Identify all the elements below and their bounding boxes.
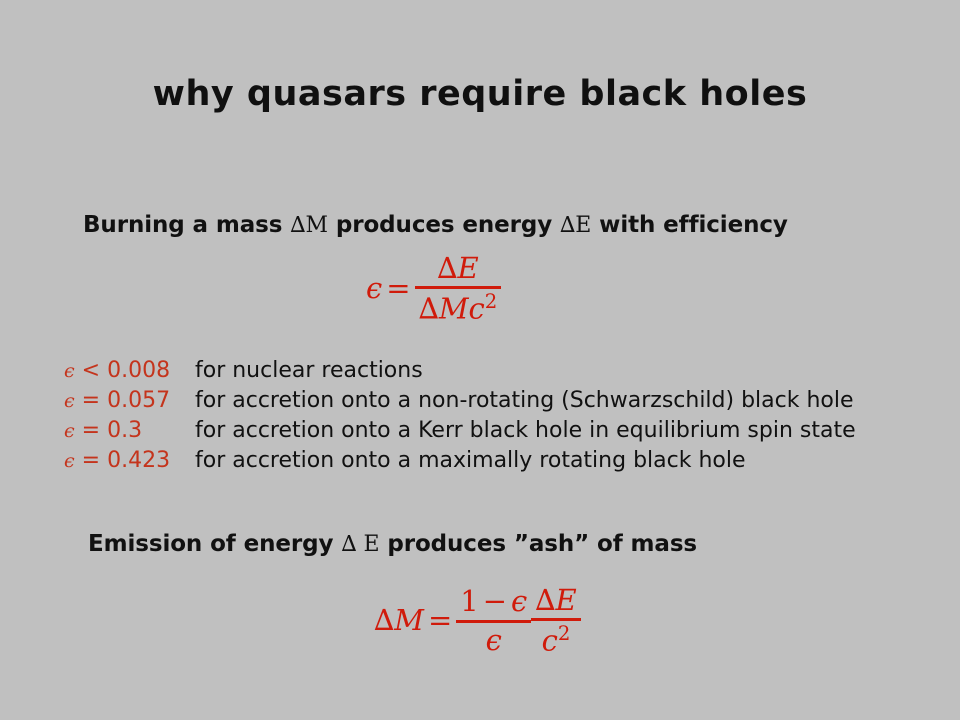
equation-efficiency-fraction: ∆E ∆Mc2 — [415, 253, 502, 325]
lightspeed-glyph-1: c — [469, 292, 485, 326]
delta-e-symbol: ∆E — [560, 213, 591, 238]
equation-efficiency-numerator: ∆E — [415, 253, 502, 289]
delta-glyph-3: ∆ — [374, 603, 394, 637]
efficiency-description: for accretion onto a non-rotating (Schwa… — [195, 388, 854, 413]
epsilon-glyph-1: ϵ — [511, 584, 527, 618]
equation-mass: ∆M= 1−ϵ ϵ ∆E c2 — [374, 586, 581, 658]
efficiency-operator: = — [82, 418, 100, 443]
intro-text-line: Burning a mass ∆M produces energy ∆E wit… — [83, 212, 788, 238]
efficiency-description: for accretion onto a maximally rotating … — [195, 448, 746, 473]
equation-mass-fraction-two: ∆E c2 — [531, 585, 580, 657]
epsilon-symbol: ϵ — [64, 360, 75, 382]
energy-glyph-1: E — [457, 251, 478, 285]
efficiency-number: 0.008 — [107, 358, 170, 383]
equation-efficiency: ϵ= ∆E ∆Mc2 — [366, 254, 501, 326]
presentation-slide: why quasars require black holes Burning … — [0, 0, 960, 720]
emission-text-line: Emission of energy ∆ E produces ”ash” of… — [88, 531, 697, 557]
efficiency-number: 0.057 — [107, 388, 170, 413]
epsilon-symbol: ϵ — [64, 450, 75, 472]
efficiency-value: ϵ = 0.423 — [64, 448, 170, 473]
equation-mass-fraction-one: 1−ϵ ϵ — [456, 586, 531, 656]
equation-efficiency-epsilon: ϵ — [366, 271, 382, 305]
efficiency-list: ϵ < 0.008 for nuclear reactions ϵ = 0.05… — [64, 358, 944, 478]
equation-mass-equals: = — [424, 603, 456, 637]
exponent-two-2: 2 — [558, 622, 571, 645]
emission-text-before: Emission of energy — [88, 531, 341, 557]
minus-glyph: − — [479, 584, 511, 618]
intro-text-before: Burning a mass — [83, 212, 290, 238]
efficiency-operator: = — [82, 448, 100, 473]
exponent-two-1: 2 — [485, 290, 498, 313]
efficiency-row: ϵ < 0.008 for nuclear reactions — [64, 358, 944, 388]
equation-mass-numerator-two: ∆E — [531, 585, 580, 621]
intro-text-after: with efficiency — [591, 212, 788, 238]
efficiency-description: for accretion onto a Kerr black hole in … — [195, 418, 856, 443]
efficiency-value: ϵ = 0.057 — [64, 388, 170, 413]
efficiency-description: for nuclear reactions — [195, 358, 423, 383]
equation-mass-denominator-one: ϵ — [456, 623, 531, 656]
energy-glyph-2: E — [556, 583, 577, 617]
efficiency-value: ϵ = 0.3 — [64, 418, 142, 443]
equation-efficiency-denominator: ∆Mc2 — [415, 289, 502, 325]
epsilon-symbol: ϵ — [64, 390, 75, 412]
efficiency-row: ϵ = 0.423 for accretion onto a maximally… — [64, 448, 944, 478]
equation-mass-numerator-one: 1−ϵ — [456, 586, 531, 622]
efficiency-row: ϵ = 0.057 for accretion onto a non-rotat… — [64, 388, 944, 418]
delta-e-symbol-2: ∆ E — [341, 532, 379, 557]
delta-glyph-4: ∆ — [535, 583, 555, 617]
mass-glyph-1: M — [439, 292, 469, 326]
efficiency-operator: < — [82, 358, 100, 383]
delta-m-symbol: ∆M — [290, 213, 328, 238]
epsilon-glyph-2: ϵ — [486, 623, 502, 657]
efficiency-value: ϵ < 0.008 — [64, 358, 170, 383]
one-glyph: 1 — [460, 584, 478, 618]
epsilon-symbol: ϵ — [64, 420, 75, 442]
equation-mass-denominator-two: c2 — [531, 621, 580, 657]
delta-glyph-2: ∆ — [419, 292, 439, 326]
emission-text-after: produces ”ash” of mass — [379, 531, 697, 557]
intro-text-middle: produces energy — [328, 212, 560, 238]
efficiency-operator: = — [82, 388, 100, 413]
mass-glyph-2: M — [394, 603, 424, 637]
slide-title: why quasars require black holes — [0, 74, 960, 114]
efficiency-number: 0.3 — [107, 418, 142, 443]
equation-efficiency-equals: = — [382, 271, 414, 305]
lightspeed-glyph-2: c — [542, 624, 558, 658]
efficiency-number: 0.423 — [107, 448, 170, 473]
delta-glyph-1: ∆ — [437, 251, 457, 285]
efficiency-row: ϵ = 0.3 for accretion onto a Kerr black … — [64, 418, 944, 448]
